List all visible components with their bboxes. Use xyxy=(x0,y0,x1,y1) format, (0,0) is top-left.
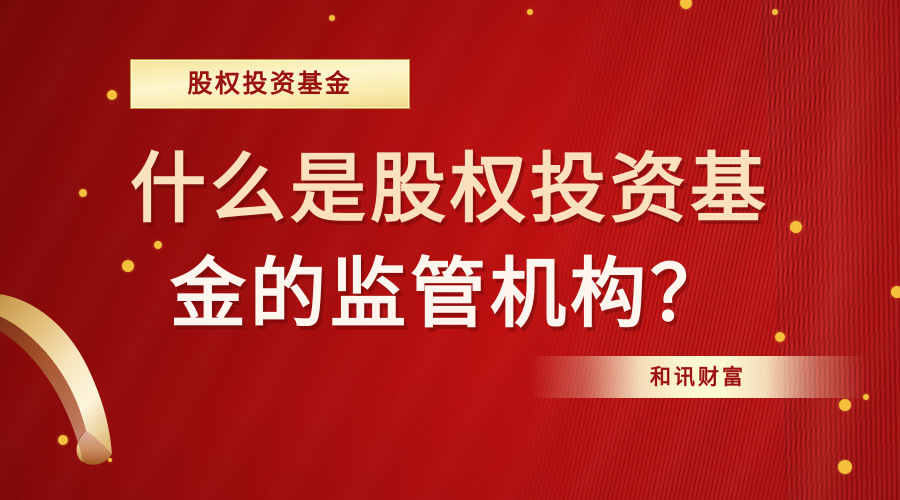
confetti-dot xyxy=(527,9,533,15)
attribution-label: 和讯财富 xyxy=(650,367,746,388)
confetti-dot xyxy=(107,90,117,100)
confetti-dot xyxy=(839,399,851,411)
headline-line-1: 什么是股权投资基 xyxy=(0,138,900,243)
confetti-dot xyxy=(58,435,68,445)
promo-poster: 股权投资基金 什么是股权投资基 金的监管机构？ 和讯财富 xyxy=(0,0,900,500)
headline-line-2: 金的监管机构？ xyxy=(0,243,900,348)
attribution-bar: 和讯财富 xyxy=(530,356,866,398)
category-tag-badge: 股权投资基金 xyxy=(130,59,410,109)
confetti-dot xyxy=(772,9,778,15)
headline-block: 什么是股权投资基 金的监管机构？ xyxy=(0,138,900,348)
category-tag-label: 股权投资基金 xyxy=(187,72,352,97)
confetti-dot xyxy=(108,458,112,462)
confetti-dot xyxy=(329,15,335,21)
confetti-dot xyxy=(838,460,852,474)
